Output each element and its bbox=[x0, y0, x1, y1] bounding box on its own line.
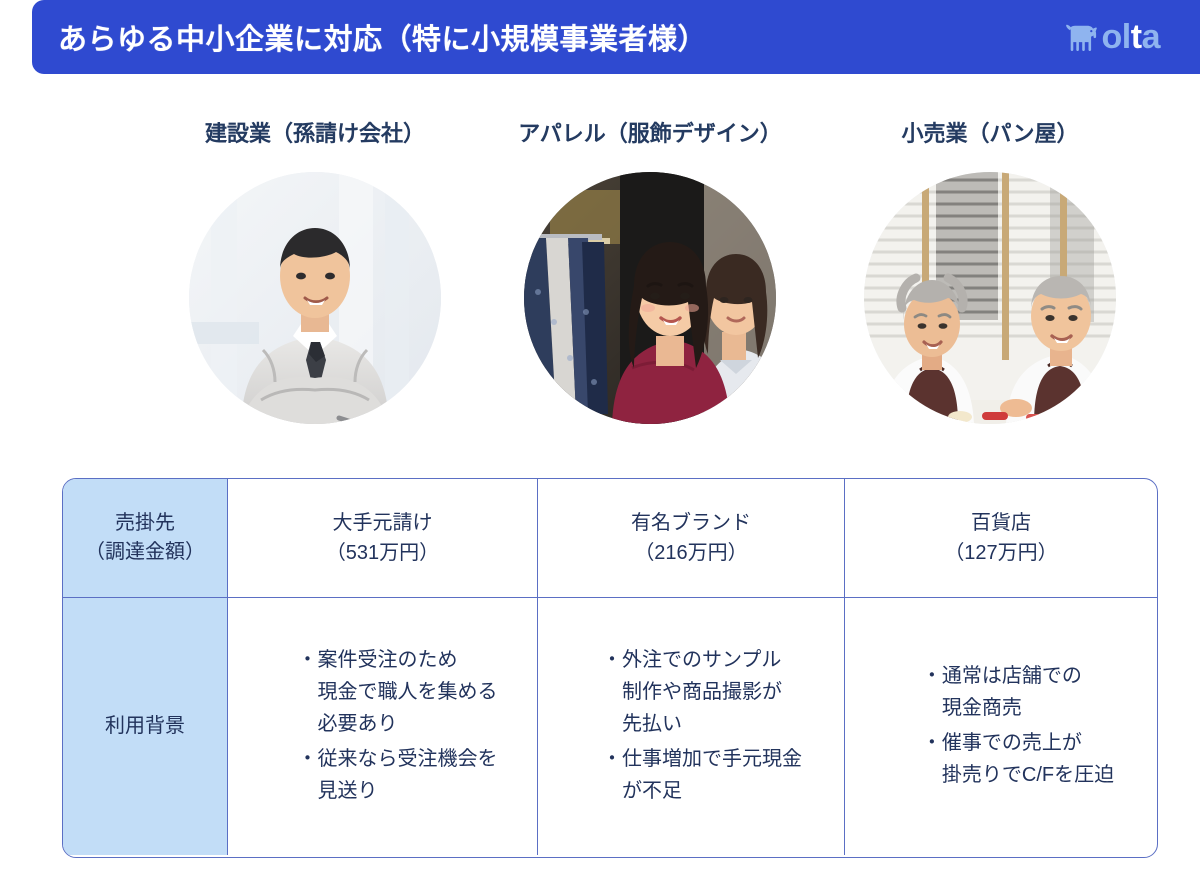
logo-word-ol: ol bbox=[1102, 20, 1131, 54]
bullet-mark: ・ bbox=[298, 743, 318, 808]
table-body-cell-apparel: ・ 外注でのサンプル 制作や商品撮影が 先払い ・ 仕事増加で手元現金 が不足 bbox=[537, 598, 844, 855]
bullet-line: 通常は店舗での bbox=[942, 660, 1114, 692]
bullet-line: 先払い bbox=[622, 708, 802, 740]
table-body-cell-construction: ・ 案件受注のため 現金で職人を集める 必要あり ・ 従来なら受注機会を 見送り bbox=[227, 598, 537, 855]
list-item: ・ 案件受注のため 現金で職人を集める 必要あり bbox=[298, 644, 498, 741]
bullet-mark: ・ bbox=[298, 644, 318, 741]
client-name: 大手元請け bbox=[333, 508, 433, 538]
olta-logo: ol t a bbox=[1064, 20, 1160, 54]
bullet-line: 仕事増加で手元現金 bbox=[622, 743, 802, 775]
slide-header-bar: あらゆる中小企業に対応（特に小規模事業者様） ol t a bbox=[32, 0, 1200, 74]
bullet-line: 掛売りでC/Fを圧迫 bbox=[942, 759, 1114, 791]
apparel-staff-photo bbox=[524, 172, 776, 424]
bullet-line: が不足 bbox=[622, 775, 802, 807]
logo-word-t: t bbox=[1131, 20, 1142, 54]
dog-icon bbox=[1064, 22, 1098, 52]
row-header-background: 利用背景 bbox=[63, 598, 227, 855]
client-name: 百貨店 bbox=[971, 508, 1031, 538]
logo-word-a: a bbox=[1142, 20, 1160, 54]
list-item: ・ 仕事増加で手元現金 が不足 bbox=[602, 743, 802, 808]
photo-row bbox=[150, 172, 1160, 427]
table-header-cell-retail: 百貨店 （127万円） bbox=[844, 479, 1157, 597]
category-heading-retail: 小売業（パン屋） bbox=[820, 116, 1160, 154]
category-heading-construction: 建設業（孫請け会社） bbox=[150, 116, 480, 154]
bullet-text: 催事での売上が 掛売りでC/Fを圧迫 bbox=[942, 727, 1114, 792]
client-name: 有名ブランド bbox=[631, 508, 751, 538]
photo-slot-construction bbox=[150, 172, 480, 427]
table-header-cell-construction: 大手元請け （531万円） bbox=[227, 479, 537, 597]
bullet-text: 案件受注のため 現金で職人を集める 必要あり bbox=[318, 644, 498, 741]
category-label: 小売業（パン屋） bbox=[901, 121, 1078, 146]
bullet-text: 外注でのサンプル 制作や商品撮影が 先払い bbox=[622, 644, 802, 741]
list-item: ・ 催事での売上が 掛売りでC/Fを圧迫 bbox=[922, 727, 1114, 792]
bullet-list: ・ 案件受注のため 現金で職人を集める 必要あり ・ 従来なら受注機会を 見送り bbox=[268, 644, 498, 810]
list-item: ・ 通常は店舗での 現金商売 bbox=[922, 660, 1114, 725]
category-heading-apparel: アパレル（服飾デザイン） bbox=[480, 116, 820, 154]
table-body-row: 利用背景 ・ 案件受注のため 現金で職人を集める 必要あり ・ bbox=[63, 597, 1157, 855]
row-header-client: 売掛先 （調達金額） bbox=[63, 479, 227, 597]
photo-slot-apparel bbox=[480, 172, 820, 427]
bullet-mark: ・ bbox=[922, 727, 942, 792]
table-body-cell-retail: ・ 通常は店舗での 現金商売 ・ 催事での売上が 掛売りでC/Fを圧迫 bbox=[844, 598, 1157, 855]
row-header-line1: 売掛先 bbox=[115, 509, 175, 538]
category-heading-row: 建設業（孫請け会社） アパレル（服飾デザイン） 小売業（パン屋） bbox=[150, 116, 1160, 154]
bullet-line: 催事での売上が bbox=[942, 727, 1114, 759]
bullet-line: 見送り bbox=[318, 775, 498, 807]
bullet-mark: ・ bbox=[602, 644, 622, 741]
row-header-line2: （調達金額） bbox=[85, 538, 205, 567]
list-item: ・ 従来なら受注機会を 見送り bbox=[298, 743, 498, 808]
bullet-line: 現金で職人を集める bbox=[318, 676, 498, 708]
bullet-line: 従来なら受注機会を bbox=[318, 743, 498, 775]
bullet-line: 外注でのサンプル bbox=[622, 644, 802, 676]
row-header-line1: 利用背景 bbox=[105, 712, 185, 741]
construction-worker-photo bbox=[189, 172, 441, 424]
client-amount: （531万円） bbox=[326, 538, 439, 568]
bullet-line: 制作や商品撮影が bbox=[622, 676, 802, 708]
bullet-line: 必要あり bbox=[318, 708, 498, 740]
table-header-row: 売掛先 （調達金額） 大手元請け （531万円） 有名ブランド （216万円） … bbox=[63, 479, 1157, 597]
category-label: アパレル（服飾デザイン） bbox=[518, 121, 782, 146]
bullet-list: ・ 通常は店舗での 現金商売 ・ 催事での売上が 掛売りでC/Fを圧迫 bbox=[888, 660, 1114, 794]
table-header-cell-apparel: 有名ブランド （216万円） bbox=[537, 479, 844, 597]
logo-wordmark: ol t a bbox=[1102, 20, 1160, 54]
client-amount: （216万円） bbox=[634, 538, 747, 568]
list-item: ・ 外注でのサンプル 制作や商品撮影が 先払い bbox=[602, 644, 802, 741]
slide-canvas: あらゆる中小企業に対応（特に小規模事業者様） ol t a 建設業（孫請け会社） bbox=[0, 0, 1200, 871]
usecase-table: 売掛先 （調達金額） 大手元請け （531万円） 有名ブランド （216万円） … bbox=[62, 478, 1158, 858]
bullet-text: 従来なら受注機会を 見送り bbox=[318, 743, 498, 808]
bakery-owners-photo bbox=[864, 172, 1116, 424]
bullet-list: ・ 外注でのサンプル 制作や商品撮影が 先払い ・ 仕事増加で手元現金 が不足 bbox=[580, 644, 802, 810]
bullet-text: 仕事増加で手元現金 が不足 bbox=[622, 743, 802, 808]
bullet-text: 通常は店舗での 現金商売 bbox=[942, 660, 1114, 725]
photo-slot-retail bbox=[820, 172, 1160, 427]
client-amount: （127万円） bbox=[944, 538, 1057, 568]
bullet-line: 現金商売 bbox=[942, 692, 1114, 724]
bullet-line: 案件受注のため bbox=[318, 644, 498, 676]
page-title: あらゆる中小企業に対応（特に小規模事業者様） bbox=[58, 16, 707, 58]
bullet-mark: ・ bbox=[922, 660, 942, 725]
category-label: 建設業（孫請け会社） bbox=[205, 121, 425, 146]
bullet-mark: ・ bbox=[602, 743, 622, 808]
